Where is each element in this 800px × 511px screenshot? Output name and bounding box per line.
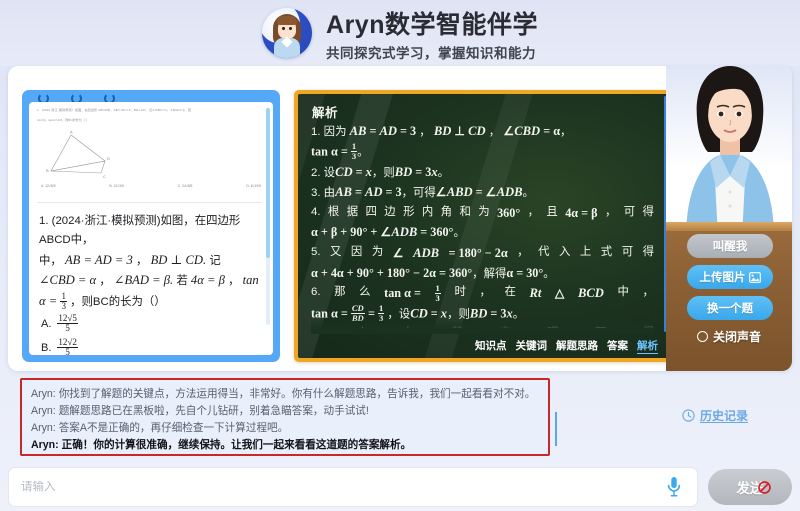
scan-options: A. 12√5/5 B. 12√3/5 C. 24√5/5 D. 6√10/5 <box>41 184 261 189</box>
scan-option: C. 24√5/5 <box>178 184 193 189</box>
statement-perp: BD ⊥ CD. <box>151 253 207 267</box>
statement-comma: ， <box>136 255 147 267</box>
statement-ab-ad: AB = AD = 3 <box>65 253 133 267</box>
teacher-action-buttons: 叫醒我 上传图片 换一个题 <box>678 234 782 320</box>
solution-step-3: 3. 由AB = AD = 3，可得∠ABD = ∠ADB。 <box>311 183 654 202</box>
main-stage: 1.（2024·浙江·模拟预测）如图，在四边形 ABCD中，AB＝AD＝3，BD… <box>8 66 792 371</box>
fraction-denominator: 5 <box>57 348 77 355</box>
step-number: 4. <box>311 206 321 218</box>
teacher-panel: 叫醒我 上传图片 换一个题 关闭声音 <box>666 66 792 371</box>
wake-me-button[interactable]: 叫醒我 <box>687 234 773 258</box>
brand: Aryn数学智能伴学 共同探究式学习，掌握知识和能力 <box>262 5 538 62</box>
app-header: Aryn数学智能伴学 共同探究式学习，掌握知识和能力 <box>0 0 800 66</box>
radio-circle-icon <box>697 331 708 342</box>
text-caret <box>555 412 557 446</box>
chat-message: Aryn: 答案A不是正确的，再仔细检查一下计算过程吧。 <box>31 420 539 437</box>
history-button[interactable]: 历史记录 <box>682 407 748 424</box>
tab-knowledge-point[interactable]: 知识点 <box>475 338 507 354</box>
chat-text: 你找到了解题的关键点，方法运用得当，非常好。你有什么解题思路，告诉我，我们一起看… <box>59 388 536 400</box>
brand-text: Aryn数学智能伴学 共同探究式学习，掌握知识和能力 <box>326 5 538 62</box>
scan-option: A. 12√5/5 <box>41 184 56 189</box>
statement-tan-fraction: 1 3 <box>60 292 67 312</box>
svg-text:A: A <box>70 130 73 135</box>
svg-text:C: C <box>103 174 106 179</box>
image-icon <box>749 272 761 283</box>
solution-step-1: 1. 因为 AB = AD = 3 ， BD ⊥ CD ， ∠CBD = α， <box>311 122 654 141</box>
svg-text:B: B <box>46 168 49 173</box>
chat-speaker: Aryn: <box>31 388 56 400</box>
solution-step-1b: tan α = 13 。 <box>311 142 654 162</box>
chat-message: Aryn: 你找到了解题的关键点，方法运用得当，非常好。你有什么解题思路，告诉我… <box>31 386 539 403</box>
sound-toggle-label: 关闭声音 <box>713 328 761 345</box>
tab-answer[interactable]: 答案 <box>607 338 628 354</box>
svg-text:D: D <box>107 156 110 161</box>
statement-tail: ，则BC的长为（） <box>70 296 166 308</box>
problem-scrollbar-thumb[interactable] <box>266 108 270 258</box>
tab-analysis[interactable]: 解析 <box>637 338 658 354</box>
problem-statement: 1. (2024·浙江·模拟预测)如图，在四边形ABCD中， 中， AB = A… <box>39 212 259 312</box>
original-scan: 1.（2024·浙江·模拟预测）如图，在四边形 ABCD中，AB＝AD＝3，BD… <box>37 108 261 196</box>
statement-cbd: ∠CBD = α <box>39 273 96 287</box>
statement-ji: 记 <box>209 255 220 267</box>
solution-step-4b: α + β + 90° + ∠ADB = 360°。 <box>311 223 654 242</box>
option-fraction: 12√5 5 <box>57 314 77 334</box>
chat-speaker: Aryn: <box>31 422 56 434</box>
microphone-icon[interactable] <box>663 474 685 500</box>
chat-speaker: Aryn: <box>31 439 59 451</box>
tab-keywords[interactable]: 关键词 <box>516 338 548 354</box>
statement-ruo: 若 <box>176 275 187 287</box>
sound-toggle[interactable]: 关闭声音 <box>666 328 792 345</box>
solution-step-6: 6. 那么 tan α = 13 时，在Rt △ BCD中， <box>311 284 654 303</box>
history-button-label: 历史记录 <box>700 407 748 424</box>
chat-message-latest: Aryn: 正确！你的计算很准确，继续保持。让我们一起来看看这道题的答案解析。 <box>31 437 539 454</box>
answer-options: A. 12√5 5 B. 12√2 5 <box>41 314 78 355</box>
fraction-denominator: 3 <box>60 302 67 311</box>
statement-4a-b: 4α = β <box>191 273 225 287</box>
page-subtitle: 共同探究式学习，掌握知识和能力 <box>326 42 538 62</box>
answer-option-b[interactable]: B. 12√2 5 <box>41 338 78 355</box>
fraction-denominator: 5 <box>57 324 77 333</box>
statement-comma3: ， <box>228 275 239 287</box>
step-number: 1. <box>311 126 321 138</box>
button-label: 上传图片 <box>700 269 746 285</box>
chat-transcript[interactable]: Aryn: 你找到了解题的关键点，方法运用得当，非常好。你有什么解题思路，告诉我… <box>20 378 550 456</box>
chat-text: 正确！你的计算很准确，继续保持。让我们一起来看看这道题的答案解析。 <box>62 439 412 451</box>
composer[interactable] <box>8 467 698 507</box>
scan-option: B. 12√3/5 <box>109 184 124 189</box>
input-bar: 发送 <box>8 466 792 508</box>
solution-step-5b: α + 4α + 90° + 180° − 2α = 360°，解得α = 30… <box>311 264 654 283</box>
blackboard-content: 1. 因为 AB = AD = 3 ， BD ⊥ CD ， ∠CBD = α， … <box>311 122 654 328</box>
step-number: 6. <box>311 286 321 298</box>
teacher-avatar-icon <box>672 66 788 238</box>
blackboard-title: 解析 <box>312 102 338 121</box>
statement-bad: ∠BAD = β. <box>114 273 173 287</box>
solution-step-2: 2. 设CD = x，则BD = 3x。 <box>311 163 654 182</box>
step-text: 因为 <box>324 126 350 138</box>
statement-lead: 1. (2024·浙江·模拟预测)如图，在四边形ABCD中， <box>39 212 259 250</box>
statement-comma2: ， <box>99 275 110 287</box>
content-fade <box>311 318 654 334</box>
scan-line-1: 1.（2024·浙江·模拟预测）如图，在四边形 ABCD中，AB＝AD＝3，BD… <box>37 108 261 113</box>
blackboard-tabs: 知识点 关键词 解题思路 答案 解析 <box>475 338 658 354</box>
blackboard: 解析 1. 因为 AB = AD = 3 ， BD ⊥ CD ， ∠CBD = … <box>298 94 668 358</box>
podium-edge <box>666 222 792 231</box>
search-input[interactable] <box>21 481 663 493</box>
answer-option-a[interactable]: A. 12√5 5 <box>41 314 78 334</box>
option-key: A. <box>41 318 51 330</box>
tab-solution-approach[interactable]: 解题思路 <box>556 338 598 354</box>
option-fraction: 12√2 5 <box>57 338 77 355</box>
blackboard-frame: 解析 1. 因为 AB = AD = 3 ， BD ⊥ CD ， ∠CBD = … <box>294 90 672 362</box>
problem-panel: 1.（2024·浙江·模拟预测）如图，在四边形 ABCD中，AB＝AD＝3，BD… <box>22 90 280 362</box>
clock-icon <box>682 409 695 422</box>
scan-line-2: 4α＝β，tanα＝1/3，则BC的长为（ ） <box>37 118 261 123</box>
no-entry-icon <box>758 481 771 494</box>
chat-message: Aryn: 题解题思路已在黑板啦，先自个儿钻研，别着急瞄答案，动手试试! <box>31 403 539 420</box>
chat-speaker: Aryn: <box>31 405 56 417</box>
divider <box>37 202 261 203</box>
button-label: 换一个题 <box>707 300 753 316</box>
send-button[interactable]: 发送 <box>708 469 792 505</box>
statement-word-zhong: 中， <box>39 255 62 267</box>
step-number: 3. <box>311 187 321 199</box>
chat-region: Aryn: 你找到了解题的关键点，方法运用得当，非常好。你有什么解题思路，告诉我… <box>8 376 792 464</box>
geometry-figure-icon: A D B C <box>43 130 155 180</box>
button-label: 叫醒我 <box>713 238 748 254</box>
scan-option: D. 6√10/5 <box>246 184 261 189</box>
upload-image-button[interactable]: 上传图片 <box>687 265 773 289</box>
option-key: B. <box>41 342 51 354</box>
problem-sheet[interactable]: 1.（2024·浙江·模拟预测）如图，在四边形 ABCD中，AB＝AD＝3，BD… <box>29 102 273 355</box>
step-number: 5. <box>311 246 321 258</box>
page-title: Aryn数学智能伴学 <box>326 5 538 41</box>
solution-step-5: 5. 又因为∠ADB = 180° − 2α，代入上式可得 <box>311 244 654 263</box>
step-number: 2. <box>311 167 321 179</box>
girl-avatar-icon <box>262 8 312 58</box>
solution-step-4: 4. 根据四边形内角和为360°，且4α = β，可得 <box>311 204 654 223</box>
chat-text: 题解题思路已在黑板啦，先自个儿钻研，别着急瞄答案，动手试试! <box>59 405 369 417</box>
change-question-button[interactable]: 换一个题 <box>687 296 773 320</box>
chat-text: 答案A不是正确的，再仔细检查一下计算过程吧。 <box>59 422 289 434</box>
